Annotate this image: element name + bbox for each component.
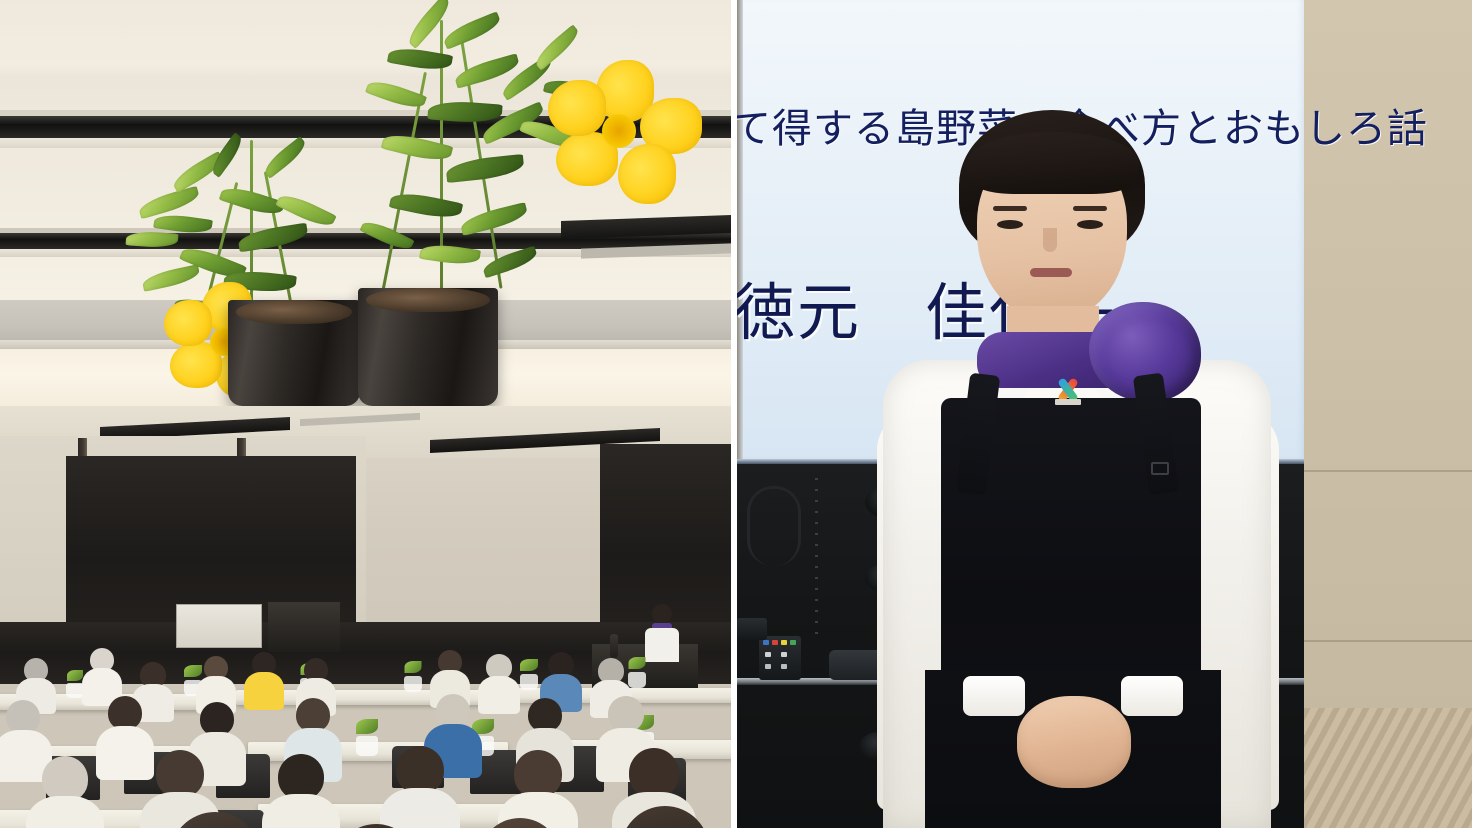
photo-lecture-audience: 沖縄の伝統的農産物の 抗酸化力はすごい！ 伝統的農産物の定義 ●戦前から食されて… bbox=[0, 406, 731, 828]
torso bbox=[26, 796, 104, 828]
remote-key bbox=[781, 652, 787, 657]
presenter-figure bbox=[867, 110, 1287, 828]
torso bbox=[244, 672, 284, 710]
head bbox=[478, 818, 562, 828]
head bbox=[333, 824, 419, 828]
audience-member bbox=[26, 756, 104, 828]
seedling-bag bbox=[404, 676, 422, 692]
rack-screw-column bbox=[815, 478, 818, 638]
audience-member bbox=[498, 750, 578, 828]
seedling-on-desk bbox=[352, 718, 382, 756]
torso bbox=[478, 676, 520, 714]
remote-key bbox=[765, 664, 771, 669]
presenter-fringe bbox=[967, 132, 1139, 194]
head bbox=[169, 812, 261, 828]
seedling-bag bbox=[520, 674, 538, 690]
slide-left-edge bbox=[737, 0, 743, 464]
remote-control bbox=[759, 636, 801, 680]
head bbox=[108, 696, 142, 730]
presenter-eyebrow-right bbox=[1073, 206, 1107, 211]
equipment-cabinet bbox=[268, 602, 340, 652]
remote-key bbox=[781, 664, 787, 669]
badge-text-strip bbox=[1055, 399, 1081, 405]
remote-key bbox=[781, 640, 787, 645]
head bbox=[528, 698, 562, 732]
remote-key bbox=[772, 640, 778, 645]
photo-collage: 沖縄の伝統的農産物の 抗酸化力はすごい！ 伝統的農産物の定義 ●戦前から食されて… bbox=[0, 0, 1472, 828]
remote-key bbox=[765, 652, 771, 657]
presenter-head bbox=[652, 604, 672, 624]
audience-member bbox=[478, 654, 520, 712]
head bbox=[156, 750, 204, 798]
audience-member-foreground bbox=[450, 818, 590, 828]
head bbox=[396, 746, 444, 794]
head bbox=[6, 700, 40, 734]
plant-pot-left bbox=[228, 300, 360, 406]
torso bbox=[380, 788, 460, 828]
head bbox=[629, 748, 679, 798]
presenter-strap-buckle bbox=[1151, 462, 1169, 475]
seedling-leaf bbox=[520, 659, 538, 671]
audience-member bbox=[380, 746, 460, 828]
presenter-cuff-right bbox=[1121, 676, 1183, 716]
plant-pot-right bbox=[358, 288, 498, 406]
head bbox=[296, 698, 330, 732]
carpet-floor bbox=[1304, 708, 1472, 828]
audience-member-foreground bbox=[306, 824, 446, 828]
presenter-body bbox=[645, 628, 679, 662]
presenter-nose bbox=[1043, 228, 1057, 252]
wall-seam bbox=[1304, 640, 1472, 642]
presenter-at-podium bbox=[640, 604, 684, 664]
remote-key bbox=[790, 640, 796, 645]
remote-key bbox=[763, 640, 769, 645]
presenter-clasped-hands bbox=[1017, 696, 1131, 788]
presenter-cuff-left bbox=[963, 676, 1025, 716]
whiteboard bbox=[176, 604, 262, 648]
audience-member bbox=[244, 652, 284, 708]
presenter-eye-left bbox=[997, 220, 1023, 229]
presenter-mouth bbox=[1030, 268, 1072, 277]
wall-seam bbox=[1304, 470, 1472, 472]
head bbox=[436, 694, 470, 728]
pot-soil bbox=[366, 288, 489, 312]
seedling-leaf bbox=[405, 661, 422, 673]
seedling-on-desk bbox=[400, 660, 426, 692]
audience-member-foreground bbox=[590, 806, 731, 828]
seedling-leaf bbox=[356, 719, 378, 734]
audience-member-foreground bbox=[140, 812, 290, 828]
seedling-leaf bbox=[67, 670, 83, 681]
x-shaped-logo-badge bbox=[1053, 376, 1083, 404]
presenter-eye-right bbox=[1077, 220, 1103, 229]
cable-loop-left bbox=[747, 486, 801, 566]
seedling-bag bbox=[356, 736, 378, 756]
pot-soil bbox=[236, 300, 352, 324]
head bbox=[200, 702, 234, 736]
microphone-podium bbox=[610, 634, 618, 658]
presenter-eyebrow-left bbox=[993, 206, 1027, 211]
head bbox=[620, 806, 710, 828]
flower-upper-right bbox=[540, 60, 700, 210]
head bbox=[608, 696, 644, 732]
status-panel bbox=[737, 618, 767, 640]
photo-potted-plants bbox=[0, 0, 731, 406]
head bbox=[514, 750, 562, 798]
photo-presenter-portrait: て得する島野菜の食べ方とおもしろ話 徳元 佳代子 SONY bbox=[737, 0, 1472, 828]
